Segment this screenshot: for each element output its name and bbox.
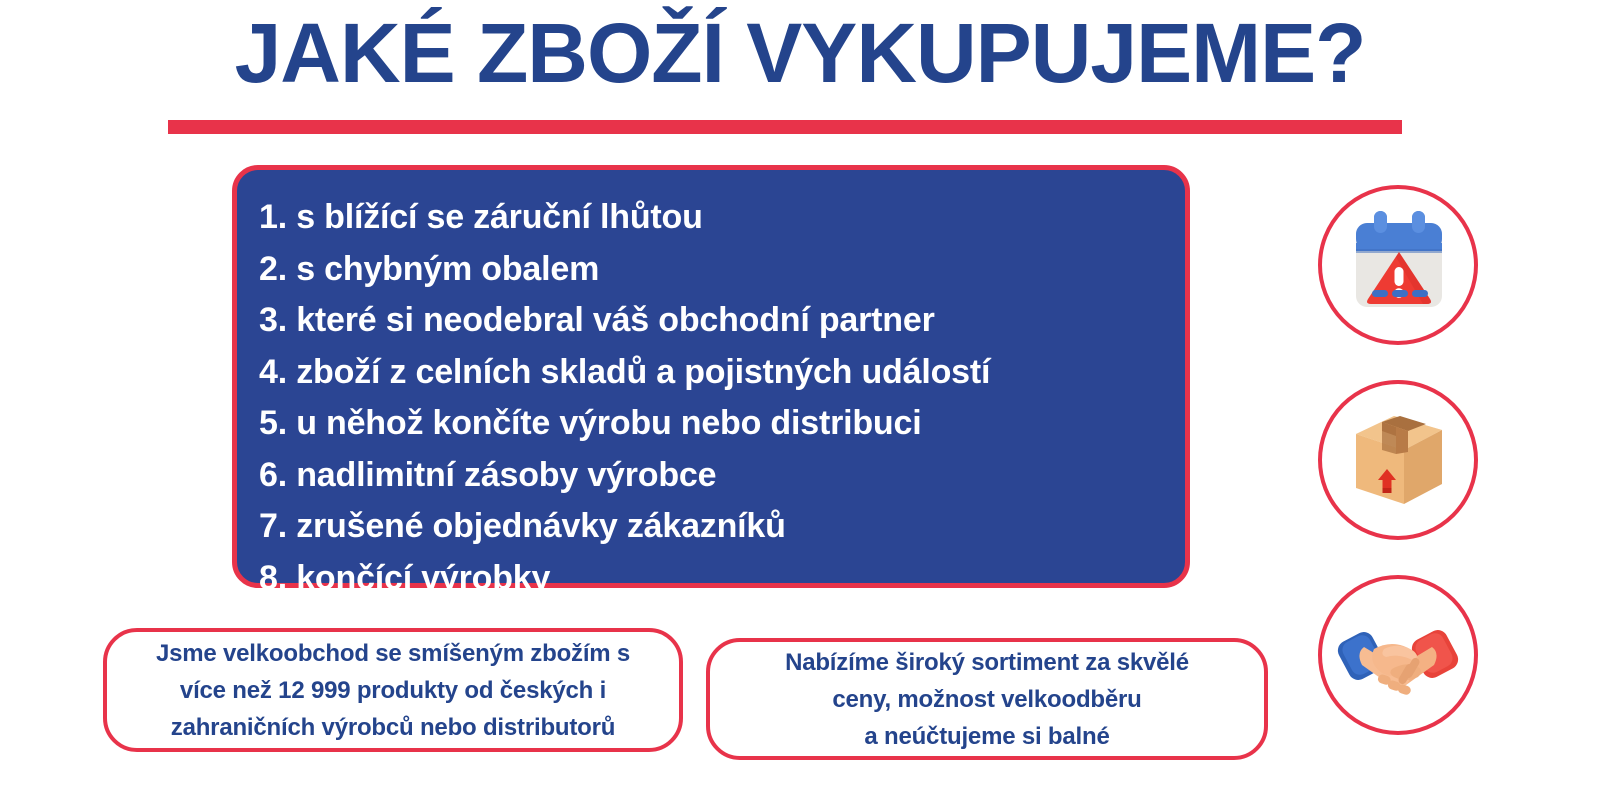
list-item-label: zboží z celních skladů a pojistných udál… <box>296 353 990 391</box>
info-line: více než 12 999 produkty od českých i <box>180 672 606 709</box>
list-item-number: 6. <box>259 456 287 494</box>
list-item-label: nadlimitní zásoby výrobce <box>296 456 716 494</box>
goods-list-panel: 1. s blížící se záruční lhůtou 2. s chyb… <box>232 165 1190 588</box>
list-item: 3. které si neodebral váš obchodní partn… <box>259 295 1185 347</box>
list-item: 4. zboží z celních skladů a pojistných u… <box>259 347 1185 399</box>
list-item-label: které si neodebral váš obchodní partner <box>296 301 934 339</box>
info-line: ceny, možnost velkoodběru <box>832 681 1141 718</box>
list-item: 8. končící výrobky <box>259 553 1185 605</box>
list-item: 2. s chybným obalem <box>259 244 1185 296</box>
list-item-number: 2. <box>259 250 287 288</box>
list-item: 5. u něhož končíte výrobu nebo distribuc… <box>259 398 1185 450</box>
list-item-number: 7. <box>259 507 287 545</box>
list-item-number: 8. <box>259 559 287 597</box>
list-item: 6. nadlimitní zásoby výrobce <box>259 450 1185 502</box>
info-line: Nabízíme široký sortiment za skvělé <box>785 644 1189 681</box>
handshake-icon <box>1336 595 1460 715</box>
info-box-assortment: Nabízíme široký sortiment za skvělé ceny… <box>706 638 1268 760</box>
list-item-label: zrušené objednávky zákazníků <box>296 507 785 545</box>
list-item-label: končící výrobky <box>296 559 550 597</box>
list-item: 7. zrušené objednávky zákazníků <box>259 501 1185 553</box>
list-item: 1. s blížící se záruční lhůtou <box>259 192 1185 244</box>
header: JAKÉ ZBOŽÍ VYKUPUJEME? <box>0 8 1600 99</box>
calendar-warning-icon <box>1338 205 1458 325</box>
list-item-label: s chybným obalem <box>296 250 599 288</box>
icon-circle-handshake <box>1318 575 1478 735</box>
list-item-label: u něhož končíte výrobu nebo distribuci <box>296 404 921 442</box>
list-item-number: 4. <box>259 353 287 391</box>
info-line: Jsme velkoobchod se smíšeným zbožím s <box>156 635 630 672</box>
info-line: zahraničních výrobců nebo distributorů <box>171 709 615 746</box>
list-item-label: s blížící se záruční lhůtou <box>296 198 702 236</box>
icon-circle-calendar-warning <box>1318 185 1478 345</box>
icon-circle-shipping-box <box>1318 380 1478 540</box>
list-item-number: 3. <box>259 301 287 339</box>
info-line: a neúčtujeme si balné <box>864 718 1109 755</box>
list-item-number: 1. <box>259 198 287 236</box>
page-title: JAKÉ ZBOŽÍ VYKUPUJEME? <box>0 8 1600 99</box>
info-box-wholesale: Jsme velkoobchod se smíšeným zbožím s ví… <box>103 628 683 752</box>
list-item-number: 5. <box>259 404 287 442</box>
title-underline-bar <box>168 120 1402 134</box>
shipping-box-icon <box>1338 400 1458 520</box>
